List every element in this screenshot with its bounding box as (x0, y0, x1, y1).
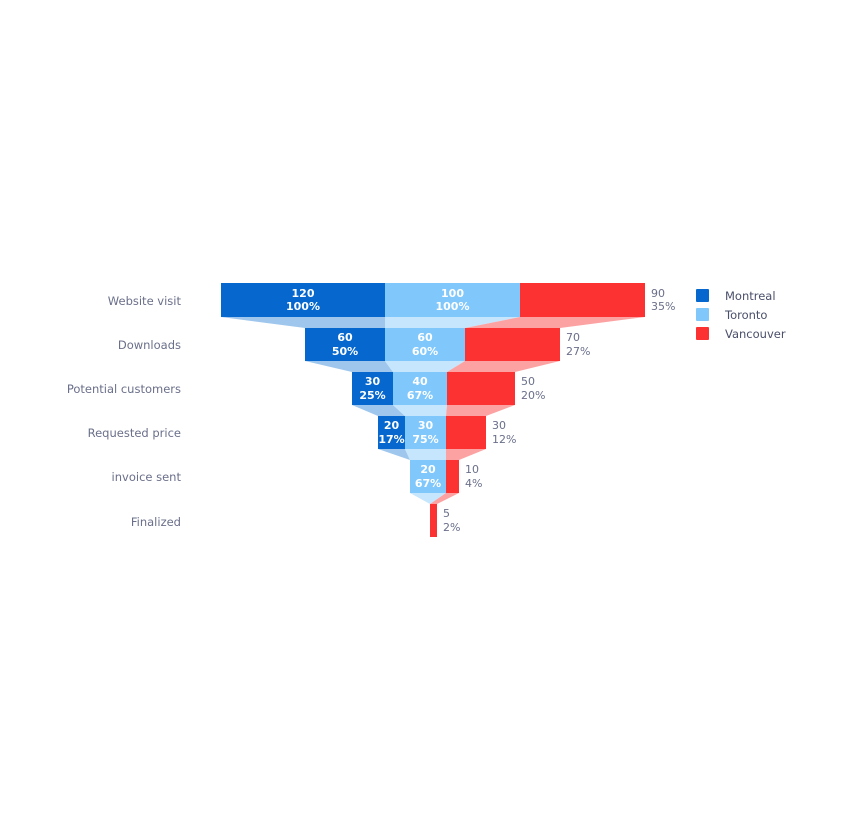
segment-toronto-invoice-sent[interactable]: 20 67% (410, 460, 446, 493)
segment-vancouver-website-visit[interactable] (520, 283, 645, 317)
segment-value: 30 (365, 375, 380, 388)
segment-percent: 50% (332, 345, 358, 358)
outside-label-vancouver-downloads: 70 27% (560, 328, 590, 361)
segment-value: 60 (417, 331, 432, 344)
legend-item-vancouver[interactable]: Vancouver (696, 324, 846, 343)
segment-percent: 4% (465, 477, 482, 490)
segment-toronto-potential-customers[interactable]: 40 67% (393, 372, 447, 405)
segment-value: 70 (566, 331, 580, 344)
segment-value: 40 (412, 375, 427, 388)
segment-montreal-requested-price[interactable]: 20 17% (378, 416, 405, 449)
funnel-connector-4 (0, 449, 862, 460)
segment-toronto-website-visit[interactable]: 100 100% (385, 283, 520, 317)
outside-label-vancouver-requested-price: 30 12% (486, 416, 516, 449)
segment-toronto-downloads[interactable]: 60 60% (385, 328, 465, 361)
segment-value: 120 (292, 287, 315, 300)
segment-value: 20 (420, 463, 435, 476)
funnel-connector-3 (0, 405, 862, 416)
funnel-stage-potential-customers: 30 25% 40 67% 50 20% (0, 372, 862, 405)
segment-percent: 100% (436, 300, 470, 313)
segment-percent: 2% (443, 521, 460, 534)
segment-value: 50 (521, 375, 535, 388)
segment-percent: 25% (359, 389, 385, 402)
segment-value: 5 (443, 507, 450, 520)
segment-percent: 17% (378, 433, 404, 446)
segment-vancouver-potential-customers[interactable] (447, 372, 515, 405)
segment-montreal-potential-customers[interactable]: 30 25% (352, 372, 393, 405)
segment-percent: 100% (286, 300, 320, 313)
segment-vancouver-requested-price[interactable] (446, 416, 486, 449)
funnel-connector-5 (0, 493, 862, 504)
segment-value: 90 (651, 287, 665, 300)
segment-vancouver-downloads[interactable] (465, 328, 560, 361)
outside-label-vancouver-invoice-sent: 10 4% (459, 460, 482, 493)
segment-percent: 20% (521, 389, 545, 402)
funnel-chart: Website visit Downloads Potential custom… (0, 0, 862, 816)
segment-value: 20 (384, 419, 399, 432)
legend-label: Vancouver (725, 327, 786, 341)
segment-percent: 67% (407, 389, 433, 402)
legend-swatch-icon (696, 327, 709, 340)
outside-label-vancouver-finalized: 5 2% (437, 504, 460, 537)
funnel-stage-invoice-sent: 20 67% 10 4% (0, 460, 862, 493)
segment-vancouver-invoice-sent[interactable] (446, 460, 459, 493)
segment-percent: 60% (412, 345, 438, 358)
funnel-stage-requested-price: 20 17% 30 75% 30 12% (0, 416, 862, 449)
legend-item-toronto[interactable]: Toronto (696, 305, 846, 324)
legend-label: Montreal (725, 289, 776, 303)
legend-label: Toronto (725, 308, 767, 322)
legend-swatch-icon (696, 289, 709, 302)
funnel-stage-finalized: 5 2% (0, 504, 862, 537)
segment-value: 30 (492, 419, 506, 432)
segment-value: 60 (337, 331, 352, 344)
legend-swatch-icon (696, 308, 709, 321)
segment-value: 10 (465, 463, 479, 476)
segment-montreal-website-visit[interactable]: 120 100% (221, 283, 385, 317)
segment-percent: 12% (492, 433, 516, 446)
segment-vancouver-finalized[interactable] (430, 504, 437, 537)
segment-percent: 35% (651, 300, 675, 313)
funnel-connector-2 (0, 361, 862, 372)
segment-value: 100 (441, 287, 464, 300)
segment-percent: 75% (412, 433, 438, 446)
outside-label-vancouver-potential-customers: 50 20% (515, 372, 545, 405)
outside-label-vancouver-website-visit: 90 35% (645, 283, 675, 317)
legend-item-montreal[interactable]: Montreal (696, 286, 846, 305)
segment-toronto-requested-price[interactable]: 30 75% (405, 416, 446, 449)
chart-legend: Montreal Toronto Vancouver (696, 286, 846, 343)
segment-percent: 27% (566, 345, 590, 358)
segment-value: 30 (418, 419, 433, 432)
segment-montreal-downloads[interactable]: 60 50% (305, 328, 385, 361)
segment-percent: 67% (415, 477, 441, 490)
